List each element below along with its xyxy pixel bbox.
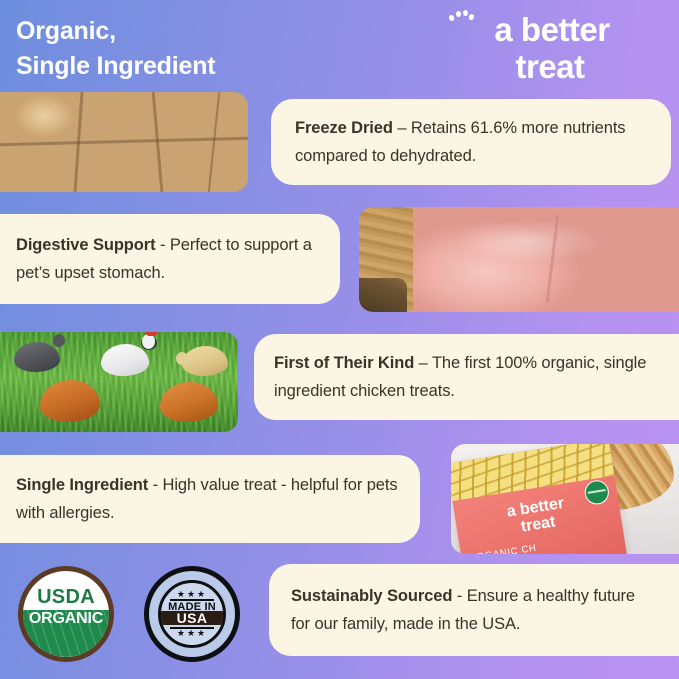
made-in-usa-seal: ★★★ MADE IN USA ★★★ [144, 566, 240, 662]
feature-title-freeze-dried: Freeze Dried [295, 119, 393, 137]
feature-text-first-of-their-kind: First of Their Kind – The first 100% org… [274, 349, 659, 406]
feature-dash-first-of-their-kind: – [414, 354, 432, 372]
usda-organic-seal: USDA ORGANIC [18, 566, 114, 662]
brand-line-2: treat [435, 49, 665, 86]
feature-text-digestive-support: Digestive Support - Perfect to support a… [16, 231, 324, 288]
feature-title-single-ingredient: Single Ingredient [16, 476, 148, 494]
feature-card-freeze-dried: Freeze Dried – Retains 61.6% more nutrie… [271, 99, 671, 185]
feature-card-single-ingredient: Single Ingredient - High value treat - h… [0, 455, 420, 543]
feature-dash-freeze-dried: – [393, 119, 411, 137]
usa-seal-stars-top: ★★★ [161, 590, 223, 599]
freeze-dried-chicken-chunks-photo [0, 92, 248, 192]
certification-badges: USDA ORGANIC ★★★ MADE IN USA ★★★ [18, 566, 240, 662]
feature-card-digestive-support: Digestive Support - Perfect to support a… [0, 214, 340, 304]
usa-seal-band: USA [161, 611, 223, 625]
feature-text-single-ingredient: Single Ingredient - High value treat - h… [16, 471, 404, 528]
brand-logo: a better treat [435, 12, 665, 86]
headline-line-1: Organic, [16, 14, 346, 49]
usa-seal-stars-bottom: ★★★ [161, 629, 223, 638]
headline-line-2: Single Ingredient [16, 49, 346, 84]
usa-seal-usa-text: USA [177, 610, 208, 626]
feature-dash-single-ingredient: - [148, 476, 162, 494]
feature-title-digestive-support: Digestive Support [16, 236, 156, 254]
feature-title-first-of-their-kind: First of Their Kind [274, 354, 414, 372]
product-package-with-dog-photo: a better treat ORGANIC CH [451, 444, 679, 554]
product-infographic: Organic, Single Ingredient a better trea… [0, 0, 679, 679]
usda-seal-top-text: USDA [23, 586, 109, 609]
product-pouch: a better treat ORGANIC CH [451, 444, 628, 554]
raw-chicken-breast-photo [359, 207, 679, 312]
brand-line-1: a better [435, 12, 665, 49]
paw-print-icon [449, 9, 475, 25]
brand-line-1-text: a better [494, 11, 609, 48]
feature-card-sustainably-sourced: Sustainably Sourced - Ensure a healthy f… [269, 564, 679, 656]
usda-seal-bottom-text: ORGANIC [23, 610, 109, 628]
free-range-chickens-in-grass-photo [0, 332, 238, 432]
feature-text-freeze-dried: Freeze Dried – Retains 61.6% more nutrie… [295, 114, 647, 171]
feature-dash-sustainably-sourced: - [452, 587, 466, 605]
feature-dash-digestive-support: - [156, 236, 170, 254]
feature-text-sustainably-sourced: Sustainably Sourced - Ensure a healthy f… [291, 582, 657, 639]
feature-title-sustainably-sourced: Sustainably Sourced [291, 587, 452, 605]
page-title: Organic, Single Ingredient [16, 14, 346, 83]
feature-card-first-of-their-kind: First of Their Kind – The first 100% org… [254, 334, 679, 420]
